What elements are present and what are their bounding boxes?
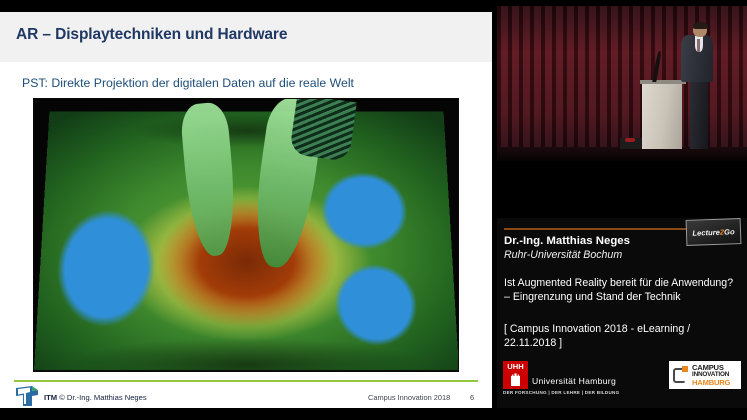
lectern bbox=[642, 84, 682, 149]
ci-orange-square bbox=[682, 366, 688, 372]
ci-line-hamburg: HAMBURG bbox=[692, 379, 730, 386]
ar-sandbox-image bbox=[33, 98, 459, 372]
slide-subtitle: PST: Direkte Projektion der digitalen Da… bbox=[22, 76, 354, 90]
speaker-video[interactable] bbox=[497, 6, 747, 161]
footer-logo-text: ITM bbox=[44, 393, 57, 402]
slide-panel: AR – Displaytechniken und Hardware PST: … bbox=[0, 12, 492, 408]
itm-logo-icon bbox=[14, 384, 40, 408]
ci-line-campus: CAMPUS bbox=[692, 364, 730, 371]
talk-title: Ist Augmented Reality bereit für die Anw… bbox=[504, 276, 736, 304]
floor-equipment-light bbox=[625, 138, 635, 143]
event-info: [ Campus Innovation 2018 - eLearning / 2… bbox=[504, 322, 736, 350]
speaker-tie bbox=[697, 39, 700, 53]
ci-mark-icon bbox=[673, 366, 689, 384]
info-divider bbox=[504, 228, 694, 230]
speaker-legs bbox=[690, 80, 709, 148]
uhh-mark-text: UHH bbox=[503, 362, 528, 371]
ci-wordmark: CAMPUS INNOVATION HAMBURG bbox=[692, 364, 730, 386]
l2g-suffix: Go bbox=[724, 227, 735, 236]
speaker-hair bbox=[693, 22, 708, 30]
footer-divider bbox=[14, 380, 478, 382]
lecture2go-badge[interactable]: Lecture2Go bbox=[686, 218, 742, 246]
lectern-top bbox=[640, 80, 686, 84]
right-panel: Lecture2Go Dr.-Ing. Matthias Neges Ruhr-… bbox=[497, 0, 747, 420]
talk-info-panel: Lecture2Go Dr.-Ing. Matthias Neges Ruhr-… bbox=[497, 218, 747, 420]
footer-event: Campus Innovation 2018 bbox=[368, 393, 450, 402]
l2g-prefix: Lecture bbox=[692, 227, 720, 237]
uhh-name: Universität Hamburg bbox=[532, 376, 616, 386]
bottom-black-bar bbox=[0, 408, 747, 420]
campus-innovation-logo: CAMPUS INNOVATION HAMBURG bbox=[669, 361, 741, 389]
lecture2go-label: Lecture2Go bbox=[692, 227, 735, 237]
stage-floor bbox=[497, 147, 747, 161]
speaker-name: Dr.-Ing. Matthias Neges bbox=[504, 235, 630, 247]
footer-left-text: ITM © Dr.-Ing. Matthias Neges bbox=[44, 393, 147, 402]
top-black-bar bbox=[0, 0, 497, 12]
footer-page-number: 6 bbox=[470, 393, 474, 402]
uhh-logo: UHH Universität Hamburg DER FORSCHUNG | … bbox=[503, 361, 633, 395]
page-title: AR – Displaytechniken und Hardware bbox=[16, 26, 287, 44]
image-frame bbox=[33, 98, 459, 372]
screen-root: AR – Displaytechniken und Hardware PST: … bbox=[0, 0, 747, 420]
speaker-affiliation: Ruhr-Universität Bochum bbox=[504, 249, 622, 261]
uhh-subtitle: DER FORSCHUNG | DER LEHRE | DER BILDUNG bbox=[503, 390, 619, 395]
footer-author: © Dr.-Ing. Matthias Neges bbox=[59, 393, 146, 402]
